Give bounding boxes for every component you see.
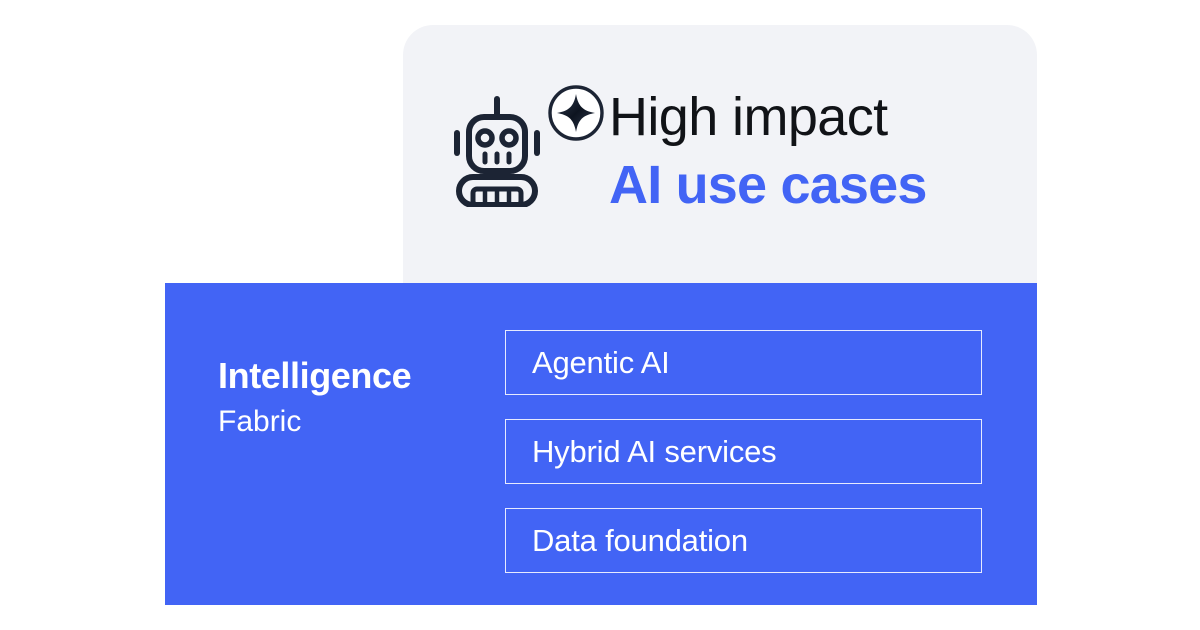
impact-heading-line1: High impact [609,87,927,149]
robot-icon [451,95,543,212]
layer-box-agentic-ai[interactable]: Agentic AI [505,330,982,395]
layer-box-label: Agentic AI [532,347,670,378]
icon-cluster [449,83,609,213]
layer-stack: Agentic AI Hybrid AI services Data found… [505,330,982,573]
high-impact-card: High impact AI use cases [403,25,1037,283]
intelligence-fabric-band: Intelligence Fabric Agentic AI Hybrid AI… [165,283,1037,605]
layer-box-label: Hybrid AI services [532,436,776,467]
impact-card-content: High impact AI use cases [449,83,927,216]
impact-heading-group: High impact AI use cases [609,83,927,216]
fabric-title: Intelligence [218,355,518,396]
layer-box-hybrid-ai-services[interactable]: Hybrid AI services [505,419,982,484]
fabric-label-group: Intelligence Fabric [218,355,518,440]
layer-box-label: Data foundation [532,525,748,556]
infographic-canvas: High impact AI use cases Intelligence Fa… [0,0,1200,630]
impact-heading-line2: AI use cases [609,155,927,217]
sparkle-star-icon [546,83,606,148]
layer-box-data-foundation[interactable]: Data foundation [505,508,982,573]
fabric-subtitle: Fabric [218,404,518,440]
